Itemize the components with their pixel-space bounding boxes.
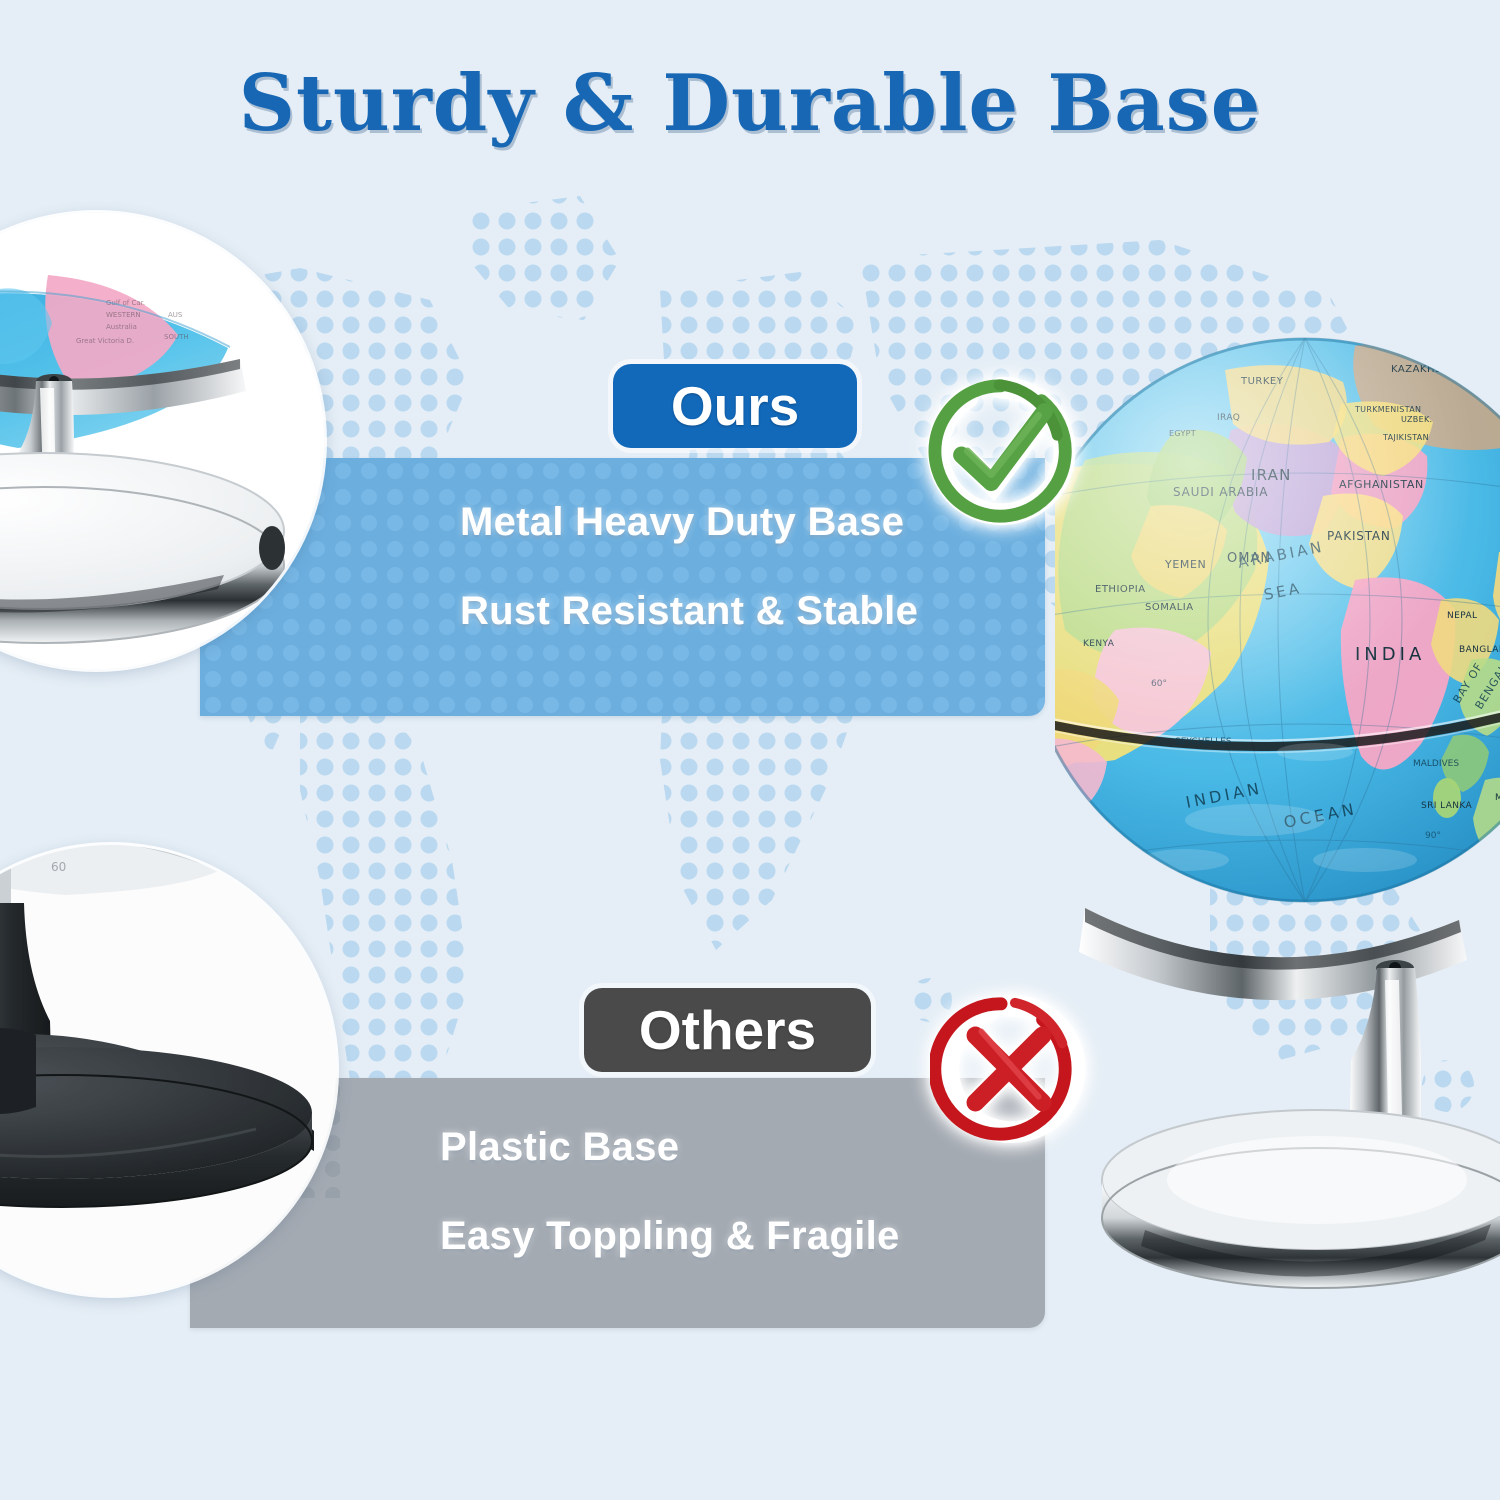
svg-text:Australia: Australia — [106, 323, 137, 331]
marketing-infographic: Sturdy & Durable Base Metal Heavy Duty B… — [0, 0, 1500, 1500]
badge-ours: Ours — [613, 364, 857, 448]
others-feature-1: Plastic Base — [440, 1125, 900, 1170]
others-feature-2: Easy Toppling & Fragile — [440, 1214, 900, 1259]
page-title: Sturdy & Durable Base — [0, 58, 1500, 149]
green-check-icon — [922, 372, 1080, 530]
svg-text:SOUTH: SOUTH — [164, 333, 189, 341]
ours-feature-list: Metal Heavy Duty Base Rust Resistant & S… — [460, 500, 918, 634]
badge-others: Others — [584, 988, 871, 1072]
others-feature-list: Plastic Base Easy Toppling & Fragile — [440, 1125, 900, 1259]
ours-feature-2: Rust Resistant & Stable — [460, 589, 918, 634]
svg-text:AUS: AUS — [168, 311, 183, 319]
svg-text:WESTERN: WESTERN — [106, 311, 141, 319]
svg-text:Great Victoria D.: Great Victoria D. — [76, 337, 134, 345]
product-globe: IRAN AFGHANISTAN PAKISTAN INDIA SAUDI AR… — [1055, 300, 1500, 1310]
ours-feature-1: Metal Heavy Duty Base — [460, 500, 918, 545]
red-cross-icon — [930, 990, 1088, 1148]
